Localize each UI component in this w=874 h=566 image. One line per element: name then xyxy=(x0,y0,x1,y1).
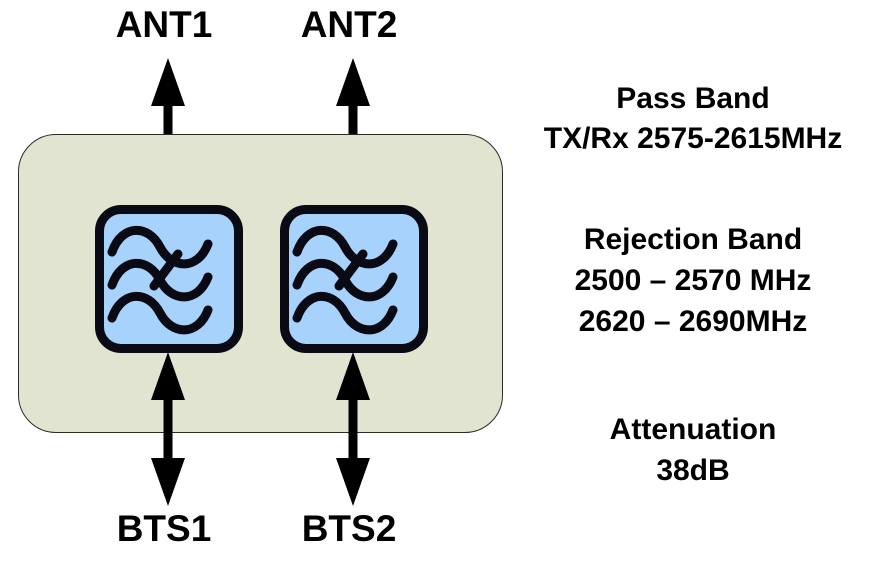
port-label-ant1: ANT1 xyxy=(69,5,259,45)
rejection-band-spec: Rejection Band 2500 – 2570 MHz 2620 – 26… xyxy=(512,219,874,342)
filter-block-1[interactable] xyxy=(95,205,243,353)
attenuation-value: 38dB xyxy=(512,450,874,491)
rejection-band-heading: Rejection Band xyxy=(512,219,874,260)
arrow-bts2-icon xyxy=(325,352,381,506)
filter-enclosure xyxy=(18,134,503,433)
bandpass-filter-icon xyxy=(104,214,234,344)
filter-block-2[interactable] xyxy=(280,205,428,353)
bandpass-filter-icon xyxy=(289,214,419,344)
pass-band-heading: Pass Band xyxy=(512,79,874,119)
diagram-canvas: ANT1 ANT2 xyxy=(0,0,874,566)
port-label-bts2: BTS2 xyxy=(254,509,444,549)
port-label-ant2: ANT2 xyxy=(254,5,444,45)
rejection-band-value-1: 2500 – 2570 MHz xyxy=(512,260,874,301)
port-label-bts1: BTS1 xyxy=(69,509,259,549)
pass-band-spec: Pass Band TX/Rx 2575-2615MHz xyxy=(512,79,874,159)
attenuation-spec: Attenuation 38dB xyxy=(512,409,874,491)
rejection-band-value-2: 2620 – 2690MHz xyxy=(512,301,874,342)
pass-band-value: TX/Rx 2575-2615MHz xyxy=(512,119,874,159)
attenuation-heading: Attenuation xyxy=(512,409,874,450)
arrow-bts1-icon xyxy=(140,352,196,506)
